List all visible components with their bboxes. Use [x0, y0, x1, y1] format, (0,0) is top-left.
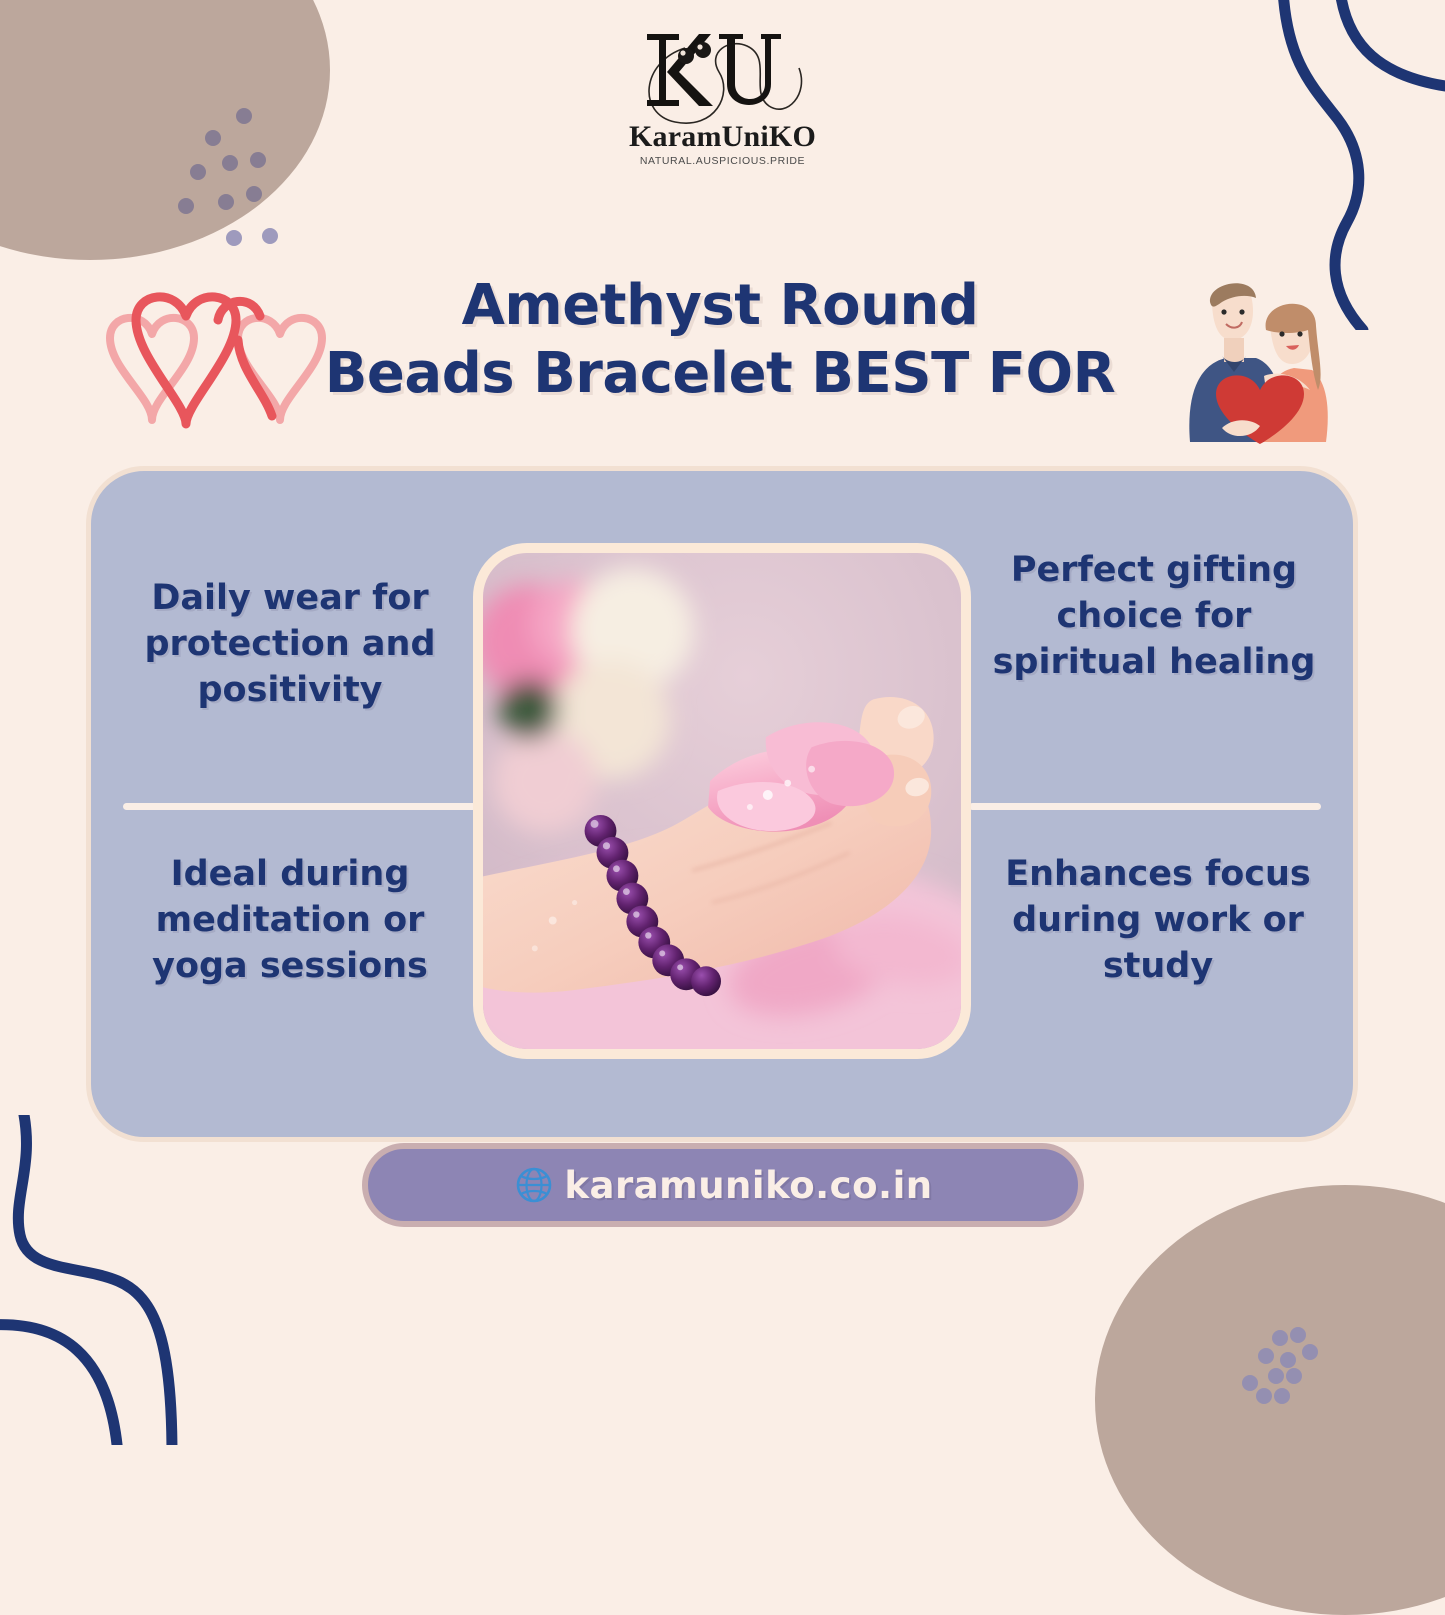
- title-line-2: Beads Bracelet BEST FOR: [300, 340, 1140, 408]
- blob-top-left: [0, 0, 330, 260]
- title-line-1: Amethyst Round: [300, 272, 1140, 340]
- benefit-focus: Enhances focus during work or study: [993, 851, 1323, 990]
- product-photo-image: [483, 553, 961, 1049]
- blob-bottom-right: [1095, 1185, 1445, 1615]
- poster-canvas: KaramUniKO NATURAL.AUSPICIOUS.PRIDE: [0, 0, 1445, 1445]
- brand-logo: KaramUniKO NATURAL.AUSPICIOUS.PRIDE: [593, 22, 853, 167]
- brand-tagline: NATURAL.AUSPICIOUS.PRIDE: [593, 155, 853, 167]
- page-title: Amethyst Round Beads Bracelet BEST FOR: [300, 272, 1140, 409]
- wave-bottom-left-icon: [0, 1115, 330, 1445]
- ku-monogram-icon: [623, 22, 823, 132]
- benefit-daily-wear: Daily wear for protection and positivity: [125, 575, 455, 714]
- divider-left: [123, 803, 485, 810]
- couple-with-heart-illustration: [1160, 272, 1340, 447]
- website-url-text: karamuniko.co.in: [564, 1164, 932, 1207]
- wave-top-right-icon: [1115, 0, 1445, 330]
- website-url-button[interactable]: karamuniko.co.in: [362, 1143, 1084, 1227]
- globe-icon: [512, 1163, 556, 1207]
- product-photo: [473, 543, 971, 1059]
- benefits-panel: Daily wear for protection and positivity…: [86, 466, 1358, 1142]
- benefit-meditation: Ideal during meditation or yoga sessions: [125, 851, 455, 990]
- divider-right: [969, 803, 1321, 810]
- benefit-gifting: Perfect gifting choice for spiritual hea…: [989, 547, 1319, 686]
- brand-name: KaramUniKO: [593, 120, 853, 154]
